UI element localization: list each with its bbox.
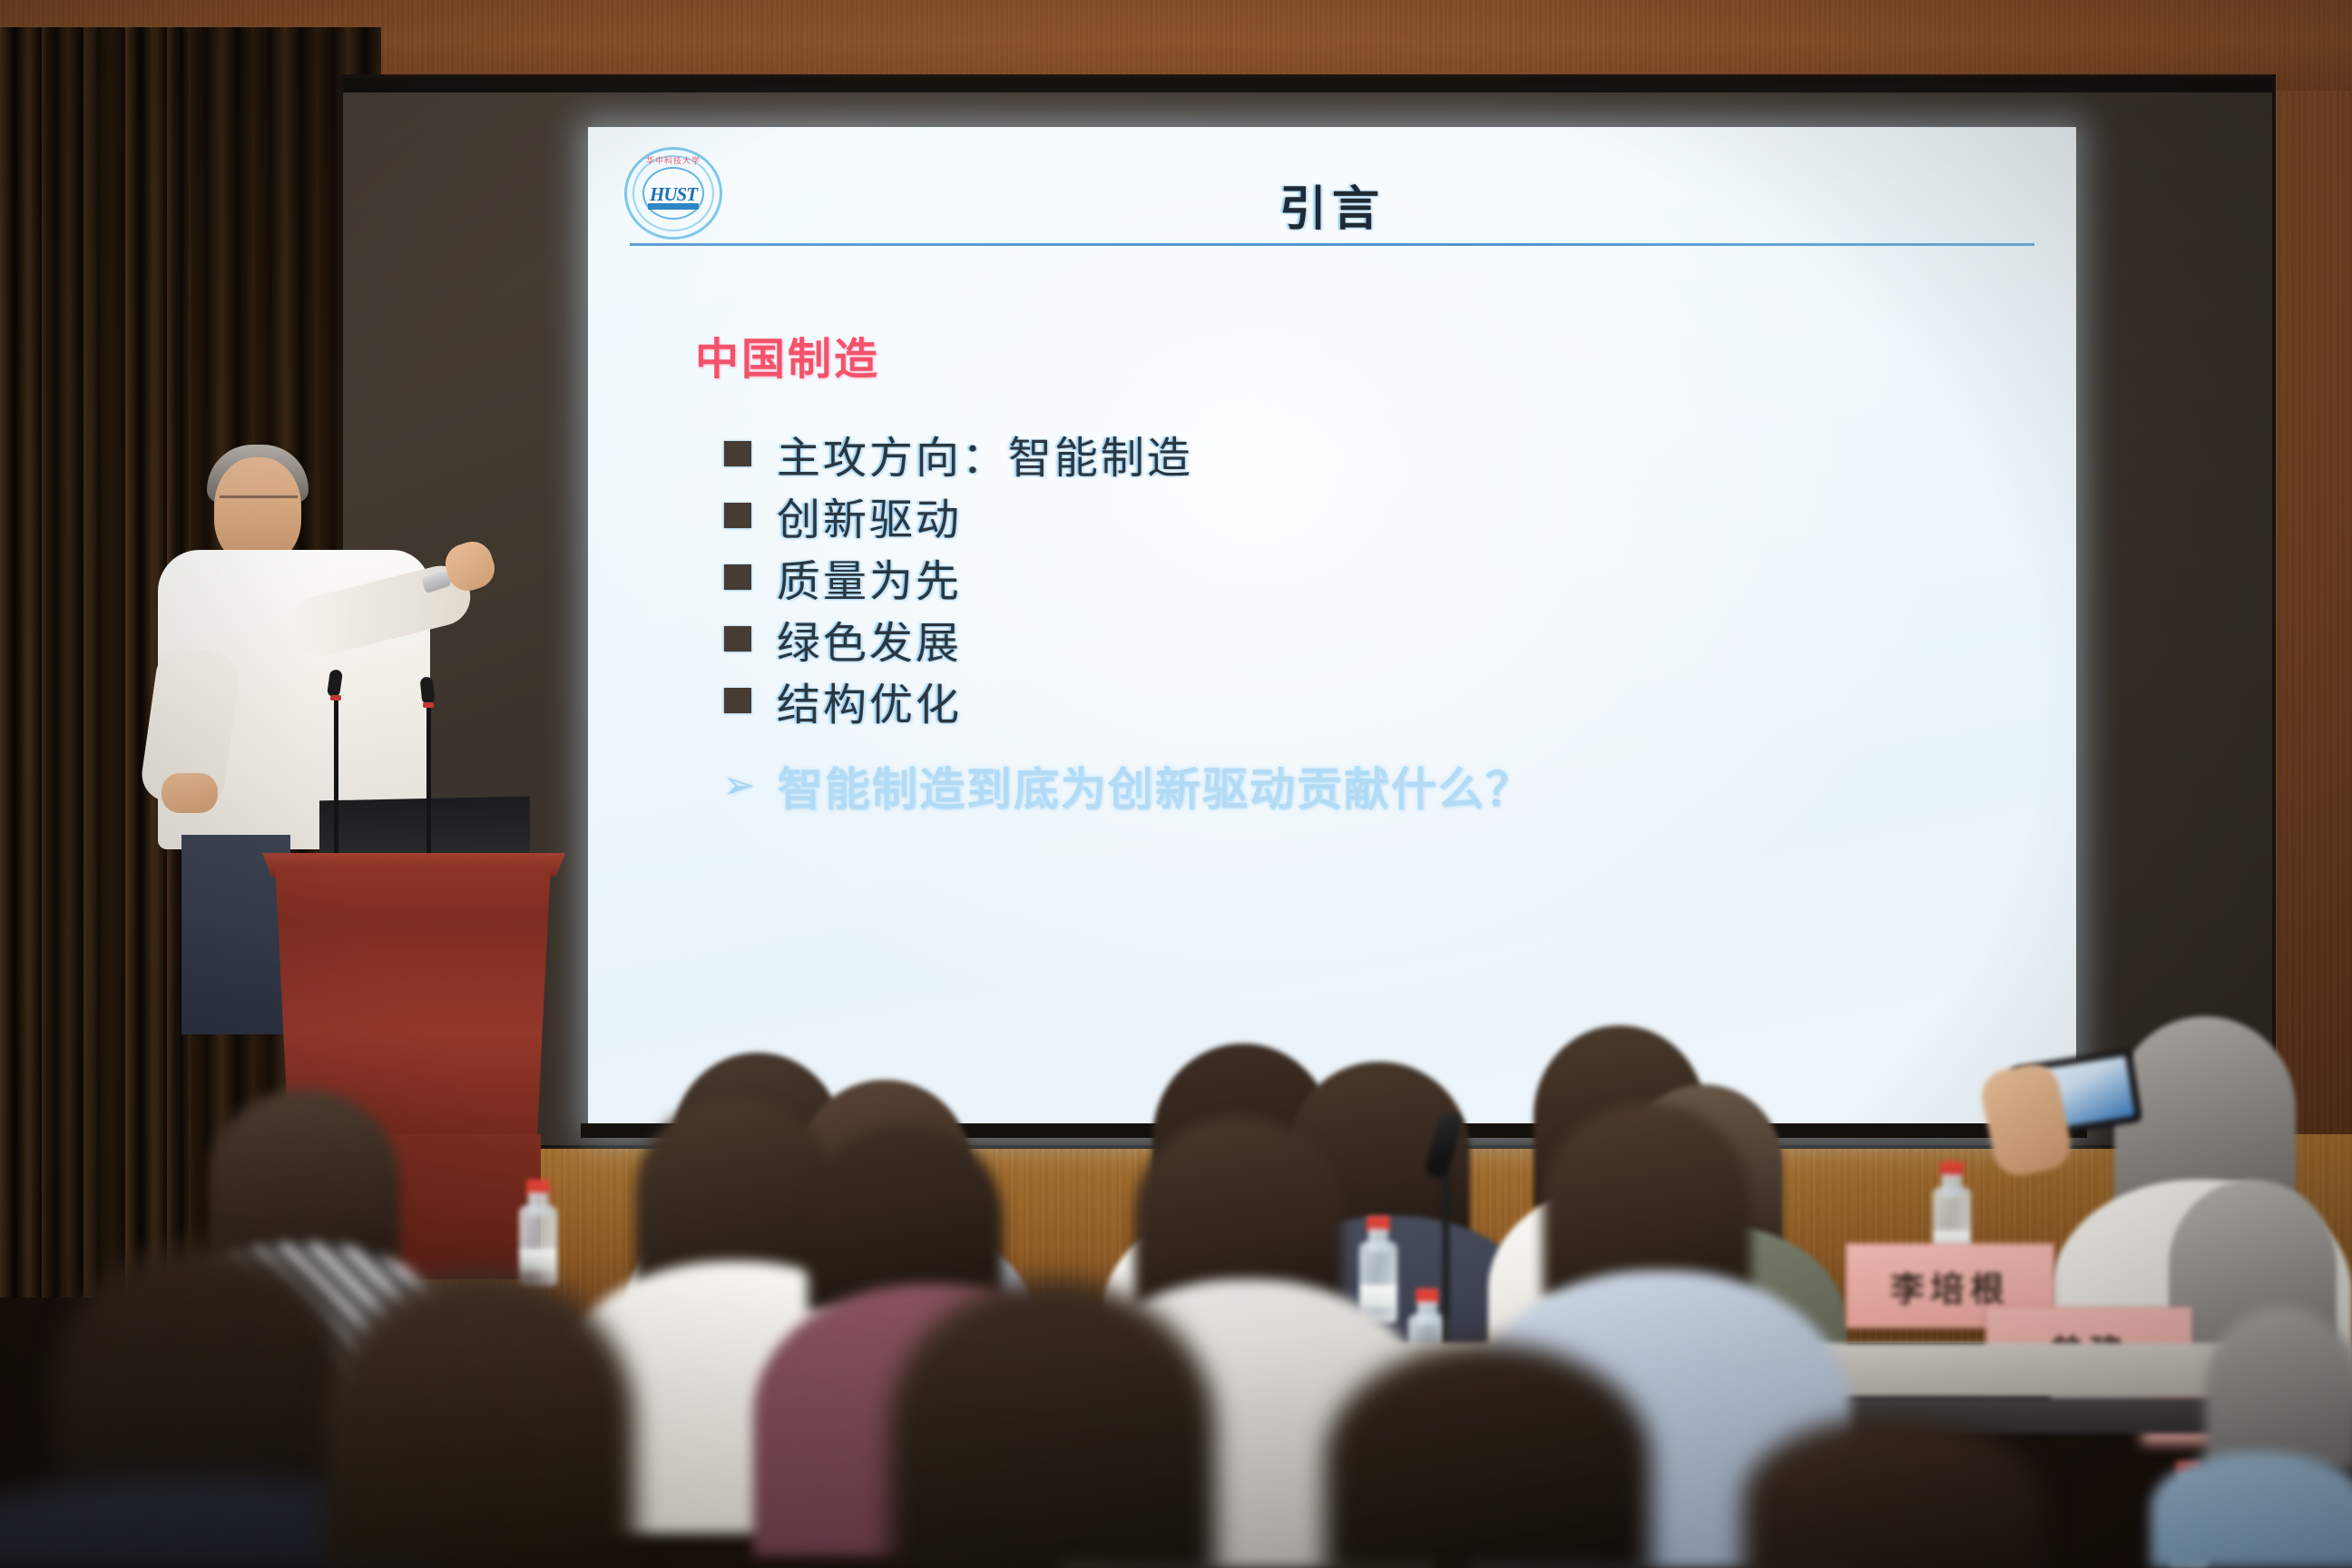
slide-title-divider xyxy=(630,243,2034,246)
presenter-glasses xyxy=(220,495,298,511)
arrow-bullet-icon: ➢ xyxy=(722,766,756,806)
attendee-head xyxy=(808,1125,1003,1311)
lecture-hall-photo: 华中科技大学 HUST 引言 中国制造 主攻方向：智能制造 创新驱动 质量为先 xyxy=(0,0,2352,1568)
list-item: 质量为先 xyxy=(724,546,1193,608)
bullet-label: 结构优化 xyxy=(777,669,962,732)
slide-title: 引言 xyxy=(588,171,2076,239)
attendee-head xyxy=(327,1270,635,1568)
slide-question-text: 智能制造到底为创新驱动贡献什么？ xyxy=(778,753,1533,818)
attendee-head xyxy=(635,1098,835,1289)
list-item: 结构优化 xyxy=(724,670,1193,731)
screen-bezel-top xyxy=(343,78,2272,93)
water-bottle xyxy=(1359,1216,1397,1323)
attendee-head xyxy=(889,1279,1216,1568)
seal-top-arc-text: 华中科技大学 xyxy=(624,154,722,166)
water-bottle xyxy=(519,1180,557,1287)
presenter-laptop xyxy=(319,797,530,863)
projected-slide: 华中科技大学 HUST 引言 中国制造 主攻方向：智能制造 创新驱动 质量为先 xyxy=(588,127,2076,1134)
attendee-shirt xyxy=(2151,1452,2352,1568)
podium-microphone-stem-right xyxy=(426,699,431,862)
square-bullet-icon xyxy=(724,688,751,713)
list-item: 主攻方向：智能制造 xyxy=(724,423,1193,485)
attendee-head xyxy=(2114,1016,2296,1202)
square-bullet-icon xyxy=(724,503,751,528)
bullet-label: 主攻方向：智能制造 xyxy=(777,422,1193,485)
attendee-head xyxy=(1325,1343,1651,1568)
attendee-head xyxy=(1543,1102,1751,1298)
presenter-left-hand xyxy=(162,773,218,813)
microphone-indicator-left xyxy=(330,695,341,701)
square-bullet-icon xyxy=(724,626,751,652)
attendee-head xyxy=(2205,1307,2352,1470)
slide-section-heading: 中国制造 xyxy=(695,323,880,387)
podium-microphone-stem-left xyxy=(334,690,338,862)
square-bullet-icon xyxy=(724,564,751,590)
slide-question-row: ➢ 智能制造到底为创新驱动贡献什么？ xyxy=(722,753,1533,818)
bullet-label: 质量为先 xyxy=(777,545,962,609)
presenter-head xyxy=(214,457,301,564)
list-item: 创新驱动 xyxy=(724,485,1193,546)
bullet-label: 创新驱动 xyxy=(777,484,962,547)
microphone-indicator-right xyxy=(423,702,434,708)
bullet-label: 绿色发展 xyxy=(777,607,962,671)
square-bullet-icon xyxy=(724,441,751,466)
slide-bullet-list: 主攻方向：智能制造 创新驱动 质量为先 绿色发展 结构优化 xyxy=(724,423,1193,731)
list-item: 绿色发展 xyxy=(724,608,1193,670)
